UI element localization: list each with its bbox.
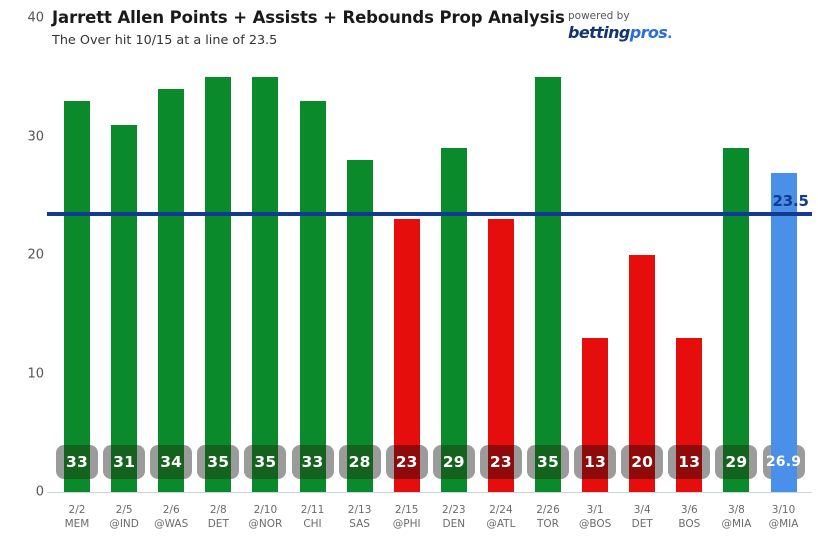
prop-line-label: 23.5 bbox=[773, 192, 809, 210]
value-badge: 13 bbox=[668, 445, 710, 479]
x-tick-opponent: @MIA bbox=[753, 517, 815, 531]
badge-value-label: 35 bbox=[527, 445, 569, 479]
badge-value-label: 28 bbox=[339, 445, 381, 479]
badge-value-label: 20 bbox=[621, 445, 663, 479]
y-tick-label: 40 bbox=[4, 11, 44, 26]
bar-chart-plot: 010203040 23.5 3331343535332823292335132… bbox=[0, 0, 818, 545]
badge-value-label: 13 bbox=[668, 445, 710, 479]
badge-value-label: 26.9 bbox=[763, 445, 805, 479]
value-badge: 23 bbox=[386, 445, 428, 479]
badge-value-label: 31 bbox=[103, 445, 145, 479]
y-tick-label: 20 bbox=[4, 248, 44, 263]
badge-value-label: 29 bbox=[433, 445, 475, 479]
bar-2-2[interactable] bbox=[64, 101, 90, 492]
badge-value-label: 35 bbox=[244, 445, 286, 479]
bar-2-26[interactable] bbox=[535, 77, 561, 492]
value-badge: 29 bbox=[715, 445, 757, 479]
y-tick-label: 0 bbox=[4, 485, 44, 500]
bar-2-23[interactable] bbox=[441, 148, 467, 492]
badge-value-label: 23 bbox=[386, 445, 428, 479]
badge-value-label: 13 bbox=[574, 445, 616, 479]
value-badge: 35 bbox=[197, 445, 239, 479]
bar-2-13[interactable] bbox=[347, 160, 373, 492]
bar-2-5[interactable] bbox=[111, 125, 137, 492]
badge-value-label: 33 bbox=[56, 445, 98, 479]
value-badge: 26.9 bbox=[763, 445, 805, 479]
badge-value-label: 29 bbox=[715, 445, 757, 479]
y-tick-label: 30 bbox=[4, 129, 44, 144]
value-badge: 34 bbox=[150, 445, 192, 479]
x-tick-date: 3/10 bbox=[753, 503, 815, 517]
bar-2-6[interactable] bbox=[158, 89, 184, 492]
value-badge: 31 bbox=[103, 445, 145, 479]
y-axis-ticks: 010203040 bbox=[0, 0, 44, 545]
bar-2-8[interactable] bbox=[205, 77, 231, 492]
x-axis-line bbox=[47, 492, 812, 493]
bar-2-10[interactable] bbox=[252, 77, 278, 492]
value-badge: 33 bbox=[292, 445, 334, 479]
badge-value-label: 23 bbox=[480, 445, 522, 479]
bar-3-8[interactable] bbox=[723, 148, 749, 492]
prop-line bbox=[47, 212, 812, 216]
chart-root: Jarrett Allen Points + Assists + Rebound… bbox=[0, 0, 818, 545]
value-badge: 20 bbox=[621, 445, 663, 479]
bar-2-11[interactable] bbox=[300, 101, 326, 492]
value-badge: 33 bbox=[56, 445, 98, 479]
value-badge: 29 bbox=[433, 445, 475, 479]
value-badge: 28 bbox=[339, 445, 381, 479]
value-badge: 35 bbox=[244, 445, 286, 479]
badge-value-label: 33 bbox=[292, 445, 334, 479]
badge-value-label: 35 bbox=[197, 445, 239, 479]
value-badge: 23 bbox=[480, 445, 522, 479]
x-tick-label: 3/10@MIA bbox=[753, 503, 815, 531]
badge-value-label: 34 bbox=[150, 445, 192, 479]
y-tick-label: 10 bbox=[4, 366, 44, 381]
value-badge: 35 bbox=[527, 445, 569, 479]
value-badge: 13 bbox=[574, 445, 616, 479]
